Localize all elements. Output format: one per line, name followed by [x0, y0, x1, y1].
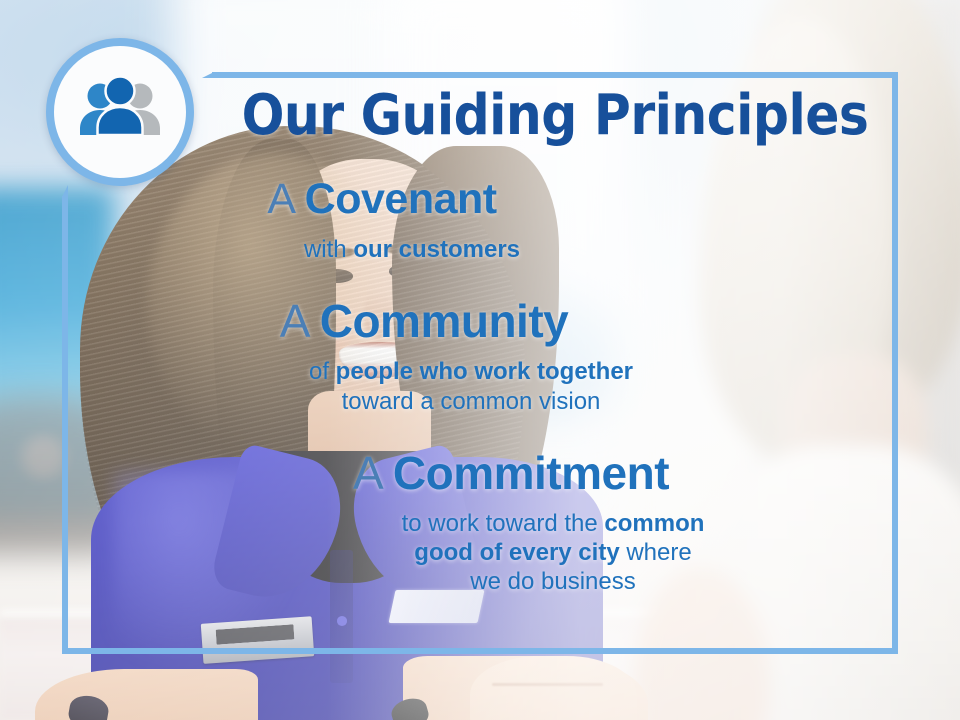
frame-border-bottom [62, 648, 898, 654]
principle-body-line: of people who work together [70, 357, 872, 386]
associate-finger-line [492, 683, 603, 686]
principle-lead: A [353, 447, 381, 499]
plain-text: to work toward the [402, 510, 605, 537]
principle-body-line: good of every city where [216, 538, 890, 567]
principle-body-line: to work toward the common [216, 509, 890, 538]
principle-covenant: A Covenant with our customers [70, 178, 890, 264]
principle-keyword: Commitment [393, 447, 669, 499]
associate-shirt-button [337, 616, 347, 625]
principle-keyword: Covenant [305, 175, 497, 223]
plain-text: where [620, 539, 692, 566]
frame-border-left [62, 196, 68, 654]
principle-body: of people who work togethertoward a comm… [70, 357, 890, 416]
emphasis-text: people who work together [336, 358, 633, 385]
frame-border-top [212, 72, 898, 78]
emphasis-text: our customers [353, 236, 520, 263]
plain-text: we do business [470, 568, 635, 595]
plain-text: toward a common vision [342, 388, 601, 415]
guiding-principles-banner: Our Guiding Principles A Covenant with o… [0, 0, 960, 720]
principle-title: A Commitment [70, 450, 890, 496]
principle-community: A Community of people who work togethert… [70, 298, 890, 416]
principles-list: A Covenant with our customers A Communit… [70, 178, 890, 597]
principle-lead: A [267, 175, 293, 223]
principle-lead: A [280, 295, 308, 347]
plain-text: with [304, 236, 353, 263]
principle-body-line: we do business [216, 567, 890, 596]
emphasis-text: common [604, 510, 704, 537]
principle-body: with our customers [70, 235, 890, 264]
plain-text: of [309, 358, 336, 385]
principle-title: A Covenant [70, 178, 890, 221]
principle-body: to work toward the commongood of every c… [70, 509, 890, 597]
page-title: Our Guiding Principles [0, 88, 898, 144]
principle-body-line: toward a common vision [70, 387, 872, 416]
emphasis-text: good of every city [414, 539, 619, 566]
principle-keyword: Community [320, 295, 569, 347]
frame-border-right [892, 72, 898, 654]
principle-body-line: with our customers [70, 235, 754, 264]
associate-clasped-hands [470, 656, 637, 720]
principle-title: A Community [70, 298, 890, 344]
principle-commitment: A Commitment to work toward the commongo… [70, 450, 890, 597]
